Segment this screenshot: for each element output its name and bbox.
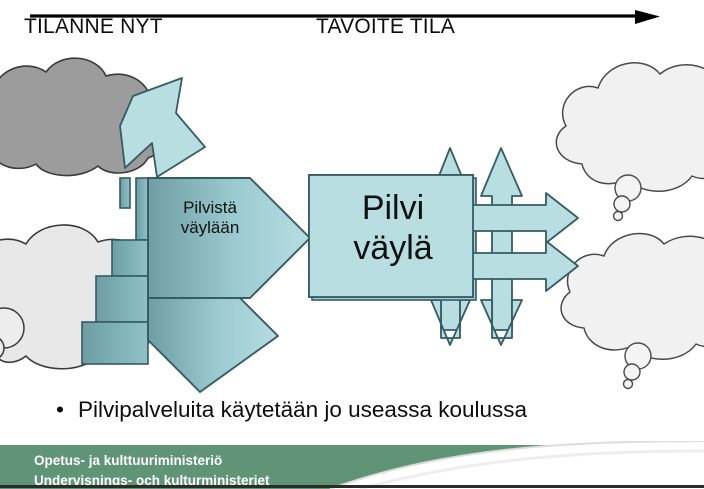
cloud-dark-top-left: [0, 48, 210, 188]
cloud-bottom-right: [550, 218, 704, 403]
slide-canvas: TILANNE NYT TAVOITE TILA: [0, 0, 704, 489]
header-label-current-state: TILANNE NYT: [24, 15, 163, 39]
header-label-target-state: TAVOITE TILA: [316, 15, 455, 39]
footer-ministry-text: Opetus- ja kulttuuriministeriöUndervisni…: [34, 451, 270, 489]
bullet-marker-icon: •: [56, 397, 78, 423]
footer-line-fi: Opetus- ja kulttuuriministeriö: [34, 453, 222, 468]
outbound-arrow-down-left: [431, 300, 470, 345]
bullet-line: •Pilvipalveluita käytetään jo useassa ko…: [56, 397, 656, 423]
outbound-arrow-up-right: [481, 148, 522, 330]
cloud-top-right: [546, 44, 704, 234]
hub-label: Pilvi väylä: [318, 188, 468, 268]
outbound-arrow-down-right: [481, 300, 522, 345]
slide-bottom-rule: [0, 485, 704, 488]
bullet-text: Pilvipalveluita käytetään jo useassa kou…: [78, 397, 527, 422]
big-arrow-label: Pilvistä väylään: [150, 198, 270, 238]
footer-band: Opetus- ja kulttuuriministeriöUndervisni…: [0, 441, 704, 489]
